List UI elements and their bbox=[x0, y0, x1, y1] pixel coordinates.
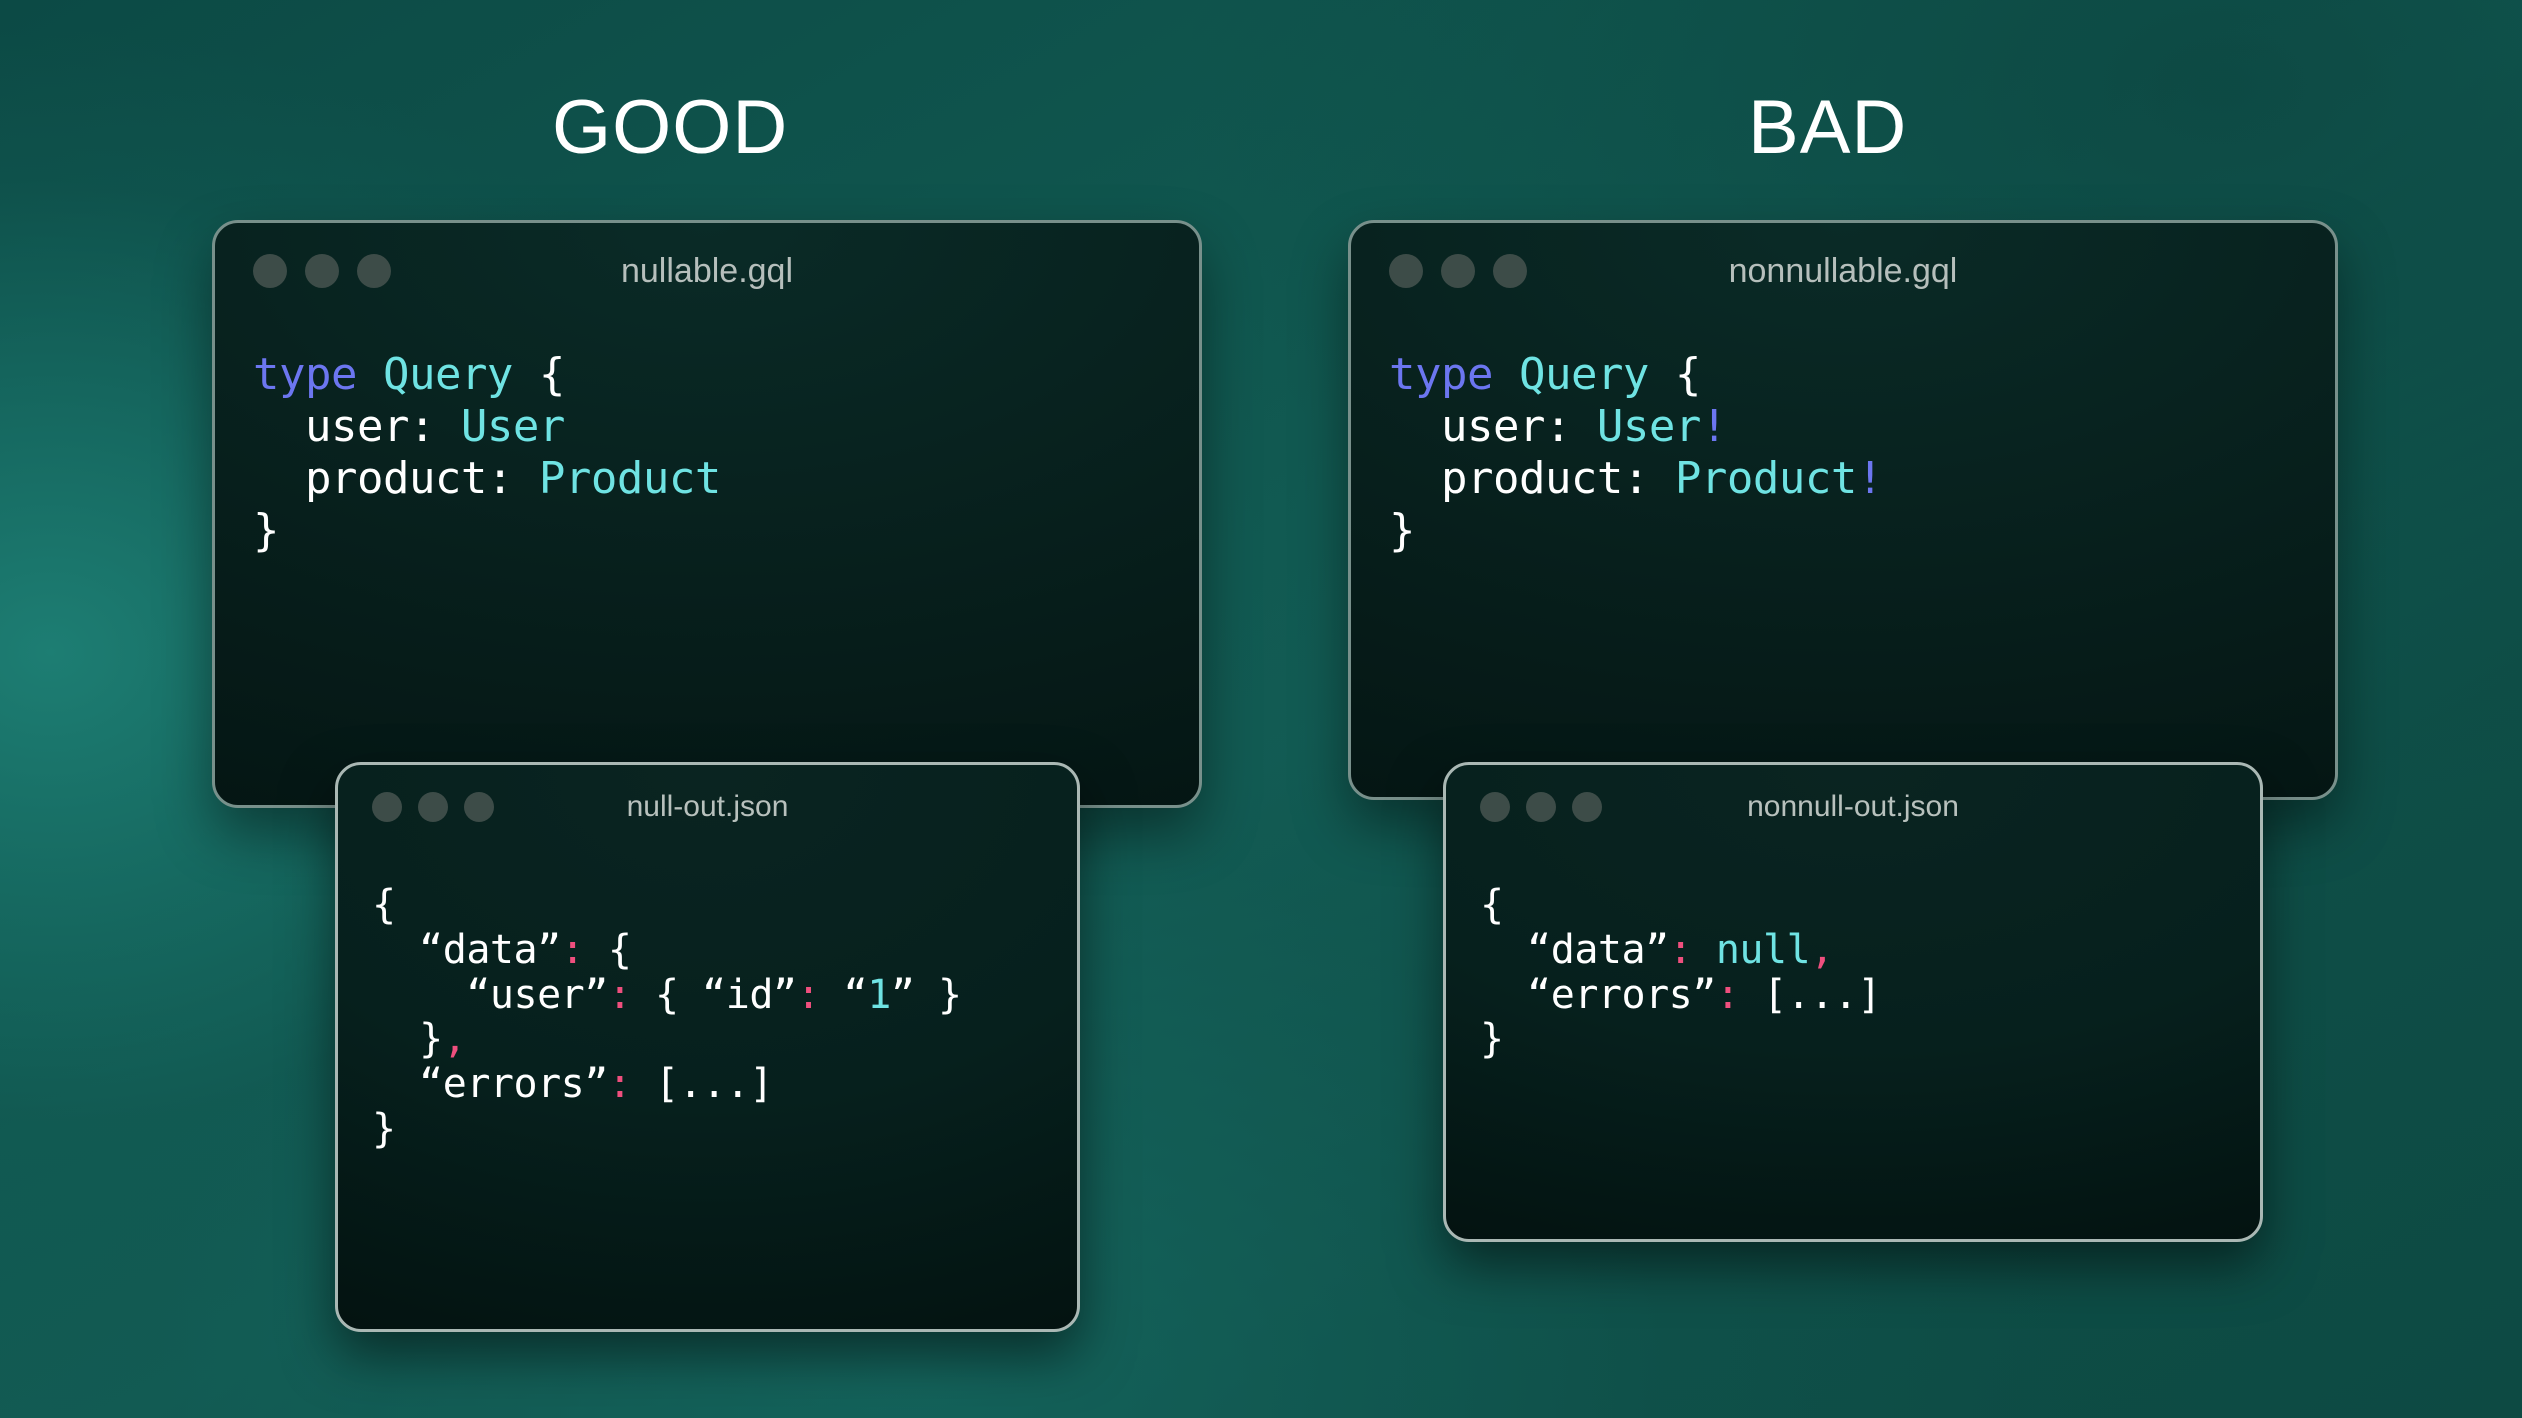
code-token: { bbox=[372, 882, 396, 928]
code-token: ! bbox=[1857, 453, 1883, 504]
code-line: type Query { bbox=[253, 349, 1199, 401]
code-token: “data” bbox=[372, 927, 561, 973]
code-line: }, bbox=[372, 1017, 1077, 1062]
code-token: User bbox=[461, 401, 565, 452]
code-token: { bbox=[584, 927, 631, 973]
code-line: { bbox=[1480, 883, 2260, 928]
code-token: User bbox=[1597, 401, 1701, 452]
code-token: [...] bbox=[631, 1061, 773, 1107]
close-dot-icon[interactable] bbox=[1480, 792, 1510, 822]
code-line: } bbox=[1389, 505, 2335, 557]
code-line: product: Product! bbox=[1389, 453, 2335, 505]
traffic-lights bbox=[1389, 254, 1527, 288]
traffic-lights bbox=[253, 254, 391, 288]
comparison-stage: GOOD nullable.gql type Query { user: Use… bbox=[0, 0, 2522, 1418]
code-line: } bbox=[372, 1107, 1077, 1152]
code-token: { bbox=[539, 349, 565, 400]
minimize-dot-icon[interactable] bbox=[1526, 792, 1556, 822]
code-token: “user” bbox=[372, 972, 608, 1018]
code-token: } bbox=[1389, 505, 1415, 556]
titlebar-nonnull-out-json: nonnull-out.json bbox=[1446, 765, 2260, 849]
code-token: { bbox=[1675, 349, 1701, 400]
code-line: user: User! bbox=[1389, 401, 2335, 453]
code-token: : bbox=[1669, 927, 1693, 973]
maximize-dot-icon[interactable] bbox=[357, 254, 391, 288]
code-token bbox=[1692, 927, 1716, 973]
minimize-dot-icon[interactable] bbox=[305, 254, 339, 288]
close-dot-icon[interactable] bbox=[253, 254, 287, 288]
code-line: “data”: { bbox=[372, 928, 1077, 973]
code-token: type bbox=[253, 349, 357, 400]
close-dot-icon[interactable] bbox=[372, 792, 402, 822]
maximize-dot-icon[interactable] bbox=[1493, 254, 1527, 288]
code-token: “errors” bbox=[372, 1061, 608, 1107]
code-token: type bbox=[1389, 349, 1493, 400]
code-token: Product bbox=[1675, 453, 1857, 504]
code-token: Query bbox=[1519, 349, 1649, 400]
window-nonnull-out-json[interactable]: nonnull-out.json { “data”: null, “errors… bbox=[1443, 762, 2263, 1242]
code-token: } bbox=[253, 505, 279, 556]
window-nonnullable-gql[interactable]: nonnullable.gql type Query { user: User!… bbox=[1348, 220, 2338, 800]
code-token: [...] bbox=[1739, 972, 1881, 1018]
code-token: { bbox=[631, 972, 702, 1018]
code-line: { bbox=[372, 883, 1077, 928]
code-line: } bbox=[253, 505, 1199, 557]
code-block-nonnull-out-json: { “data”: null, “errors”: [...]} bbox=[1446, 849, 2260, 1062]
code-line: product: Product bbox=[253, 453, 1199, 505]
code-token: : bbox=[561, 927, 585, 973]
code-line: “data”: null, bbox=[1480, 928, 2260, 973]
code-token: user: bbox=[253, 401, 461, 452]
heading-bad: BAD bbox=[1748, 90, 1907, 166]
code-line: } bbox=[1480, 1017, 2260, 1062]
traffic-lights bbox=[1480, 792, 1602, 822]
code-token: } bbox=[372, 1106, 396, 1152]
maximize-dot-icon[interactable] bbox=[1572, 792, 1602, 822]
code-token bbox=[1493, 349, 1519, 400]
code-line: “errors”: [...] bbox=[372, 1062, 1077, 1107]
heading-good: GOOD bbox=[552, 90, 788, 166]
code-token bbox=[357, 349, 383, 400]
traffic-lights bbox=[372, 792, 494, 822]
code-token: product: bbox=[253, 453, 539, 504]
code-block-nullable-gql: type Query { user: User product: Product… bbox=[215, 319, 1199, 557]
close-dot-icon[interactable] bbox=[1389, 254, 1423, 288]
code-token: product: bbox=[1389, 453, 1675, 504]
code-line: “errors”: [...] bbox=[1480, 973, 2260, 1018]
titlebar-nonnullable-gql: nonnullable.gql bbox=[1351, 223, 2335, 319]
code-token: } bbox=[1480, 1016, 1504, 1062]
code-token: , bbox=[1810, 927, 1834, 973]
code-token: : bbox=[797, 972, 821, 1018]
code-token bbox=[513, 349, 539, 400]
code-token: “data” bbox=[1480, 927, 1669, 973]
code-line: user: User bbox=[253, 401, 1199, 453]
code-token: “errors” bbox=[1480, 972, 1716, 1018]
code-token: , bbox=[443, 1016, 467, 1062]
code-token: } bbox=[372, 1016, 443, 1062]
code-token: user: bbox=[1389, 401, 1597, 452]
code-token bbox=[1649, 349, 1675, 400]
code-line: type Query { bbox=[1389, 349, 2335, 401]
code-token: : bbox=[608, 1061, 632, 1107]
code-token: 1 bbox=[867, 972, 891, 1018]
maximize-dot-icon[interactable] bbox=[464, 792, 494, 822]
titlebar-nullable-gql: nullable.gql bbox=[215, 223, 1199, 319]
code-token: Query bbox=[383, 349, 513, 400]
code-token: “id” bbox=[702, 972, 796, 1018]
window-nullable-gql[interactable]: nullable.gql type Query { user: User pro… bbox=[212, 220, 1202, 808]
code-block-null-out-json: { “data”: { “user”: { “id”: “1” } }, “er… bbox=[338, 849, 1077, 1152]
titlebar-null-out-json: null-out.json bbox=[338, 765, 1077, 849]
window-null-out-json[interactable]: null-out.json { “data”: { “user”: { “id”… bbox=[335, 762, 1080, 1332]
code-token: “ bbox=[820, 972, 867, 1018]
minimize-dot-icon[interactable] bbox=[418, 792, 448, 822]
code-token: ” } bbox=[891, 972, 962, 1018]
code-token: : bbox=[608, 972, 632, 1018]
code-block-nonnullable-gql: type Query { user: User! product: Produc… bbox=[1351, 319, 2335, 557]
code-token: : bbox=[1716, 972, 1740, 1018]
code-token: ! bbox=[1701, 401, 1727, 452]
minimize-dot-icon[interactable] bbox=[1441, 254, 1475, 288]
code-token: { bbox=[1480, 882, 1504, 928]
code-line: “user”: { “id”: “1” } bbox=[372, 973, 1077, 1018]
code-token: Product bbox=[539, 453, 721, 504]
code-token: null bbox=[1716, 927, 1810, 973]
